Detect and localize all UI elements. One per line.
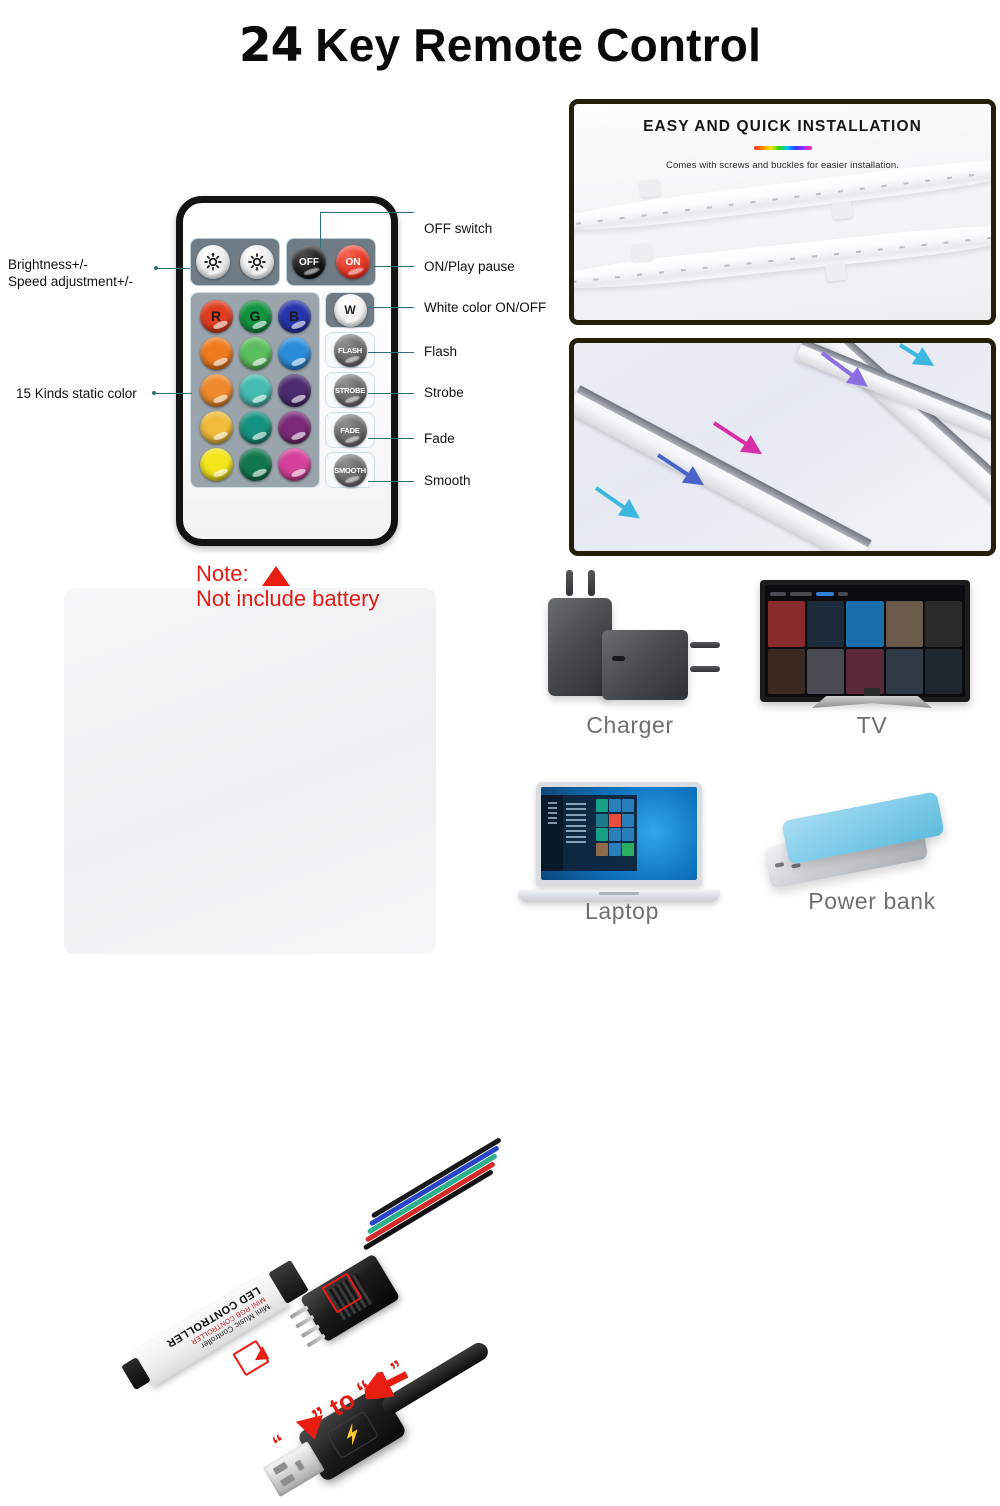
tv-screen [765, 585, 965, 697]
buckle-4 [825, 263, 847, 282]
device-power-bank: Power bank [750, 790, 994, 950]
connector-pin-3 [301, 1324, 320, 1338]
arrow-magenta [714, 423, 754, 449]
strobe-button[interactable]: STROBE [334, 374, 367, 407]
laptop-screen-bezel [536, 782, 702, 886]
color-button-2[interactable]: G [239, 300, 272, 333]
fade-button[interactable]: FADE [334, 414, 367, 447]
callout-smooth: Smooth [424, 473, 471, 488]
leader-on [374, 266, 414, 267]
power-group: OFF ON [286, 238, 376, 286]
color-button-3[interactable]: B [278, 300, 311, 333]
installation-photo-panel: EASY AND QUICK INSTALLATION Comes with s… [569, 99, 996, 325]
usb-slot-1 [273, 1462, 289, 1475]
windows-tile-9 [622, 828, 634, 841]
brightness-up-button[interactable] [196, 245, 230, 279]
windows-tile-6 [622, 814, 634, 827]
color-button-4[interactable] [200, 337, 233, 370]
tv-caption: TV [752, 712, 992, 739]
windows-tile-1 [596, 799, 608, 812]
charger-usb-c-port [612, 656, 625, 661]
windows-tile-10 [596, 843, 608, 856]
color-button-12[interactable] [278, 411, 311, 444]
windows-tile-3 [622, 799, 634, 812]
windows-tile-7 [596, 828, 608, 841]
remote-main-panel: RGB W FLASH STROBE FADE SMOOTH [190, 292, 376, 488]
callout-fade: Fade [424, 431, 455, 446]
connector-pin-1 [289, 1305, 308, 1319]
windows-tile-8 [609, 828, 621, 841]
wire-red [365, 1161, 496, 1243]
flash-button-cell: FLASH [325, 332, 375, 368]
laptop-caption: Laptop [512, 898, 732, 925]
power-bank-caption: Power bank [750, 888, 994, 915]
flash-button[interactable]: FLASH [334, 334, 367, 367]
wire-green [367, 1153, 498, 1235]
tv-menu-bar [768, 588, 962, 599]
callout-white-color: White color ON/OFF [424, 300, 546, 315]
arrow-blue [658, 455, 696, 480]
windows-tile-12 [622, 843, 634, 856]
power-bank-port-1 [775, 862, 785, 868]
start-menu-app-list [563, 795, 593, 871]
controller-usb-panel: Mini Music Controller MINI RGB CONTROLLE… [64, 588, 436, 954]
strobe-button-cell: STROBE [325, 372, 375, 408]
title-number: 24 [239, 18, 302, 73]
color-button-5[interactable] [239, 337, 272, 370]
sun-down-icon [247, 252, 267, 272]
usb-slot-3 [295, 1460, 305, 1472]
callout-brightness-line1: Brightness+/- [8, 256, 133, 273]
note-triangle-icon [262, 566, 290, 586]
white-color-button[interactable]: W [334, 294, 367, 327]
leader-dot-brightness [154, 266, 158, 270]
callout-off-switch: OFF switch [424, 221, 492, 236]
color-button-7[interactable] [200, 374, 233, 407]
leader-dot-static-color [152, 391, 156, 395]
buckle-3 [631, 243, 653, 262]
sun-up-icon [203, 252, 223, 272]
tv-thumbnail-5 [925, 601, 962, 647]
charger-prong-3 [690, 642, 720, 648]
callout-brightness-line2: Speed adjustment+/- [8, 273, 133, 290]
leader-off [320, 212, 414, 213]
title-rest: Key Remote Control [302, 19, 761, 71]
windows-start-menu [541, 795, 637, 871]
windows-tile-4 [596, 814, 608, 827]
arrow-cyan-upper [900, 345, 926, 361]
tv-thumbnail-7 [807, 649, 844, 695]
callout-static-color: 15 Kinds static color [16, 386, 137, 401]
start-menu-rail [541, 795, 563, 871]
arrow-cyan-lower [596, 488, 632, 513]
led-controller: Mini Music Controller MINI RGB CONTROLLE… [132, 1270, 290, 1387]
tv-thumbnail-9 [886, 649, 923, 695]
callout-strobe: Strobe [424, 385, 464, 400]
laptop-display [541, 787, 697, 880]
color-button-grid: RGB [190, 292, 320, 488]
tv-thumbnail-4 [886, 601, 923, 647]
power-bank-port-2 [791, 863, 801, 869]
brightness-group [190, 238, 280, 286]
arrow-overlay [574, 343, 991, 551]
wire-blue [369, 1145, 500, 1227]
install-subtitle: Comes with screws and buckles for easier… [574, 160, 991, 171]
charger-caption: Charger [520, 712, 740, 739]
arrow-purple [822, 353, 860, 381]
charger-prong-4 [690, 666, 720, 672]
leader-white [368, 307, 414, 308]
tv-thumbnail-10 [925, 649, 962, 695]
leader-fade [368, 438, 414, 439]
callout-flash: Flash [424, 344, 457, 359]
color-button-8[interactable] [239, 374, 272, 407]
leader-strobe [368, 393, 414, 394]
color-button-14[interactable] [239, 448, 272, 481]
leader-off-vertical [320, 212, 321, 248]
device-tv: TV [752, 576, 992, 756]
tv-thumbnail-2 [807, 601, 844, 647]
tv-thumbnail-3 [846, 601, 883, 647]
color-button-1[interactable]: R [200, 300, 233, 333]
leader-smooth [368, 481, 414, 482]
buckle-2 [831, 201, 853, 220]
laptop-trackpad-notch [599, 892, 639, 895]
brightness-down-button[interactable] [240, 245, 274, 279]
windows-tile-5 [609, 814, 621, 827]
leader-static-color [156, 393, 192, 394]
off-button[interactable]: OFF [292, 245, 326, 279]
buckle-1 [639, 179, 661, 198]
rainbow-divider [754, 146, 812, 150]
color-button-10[interactable] [200, 411, 233, 444]
tv-stand [812, 696, 932, 708]
color-button-13[interactable] [200, 448, 233, 481]
quote-open: “ [268, 1429, 291, 1457]
connector-pin-4 [306, 1334, 325, 1348]
remote-top-row: OFF ON [190, 238, 376, 286]
color-button-6[interactable] [278, 337, 311, 370]
connector-pin-2 [295, 1315, 314, 1329]
usb-slot-2 [280, 1474, 296, 1487]
tv-thumbnail-1 [768, 601, 805, 647]
callout-brightness-speed: Brightness+/- Speed adjustment+/- [8, 256, 133, 290]
install-heading: EASY AND QUICK INSTALLATION [574, 118, 991, 136]
infographic-page: 24 Key Remote Control [0, 0, 1000, 1000]
smooth-button-cell: SMOOTH [325, 452, 375, 488]
tv-set [760, 580, 970, 702]
controller-printing: Mini Music Controller MINI RGB CONTROLLE… [132, 1270, 290, 1387]
effect-button-column: W FLASH STROBE FADE SMOOTH [325, 292, 375, 488]
charger-prong-1 [566, 570, 573, 596]
color-button-9[interactable] [278, 374, 311, 407]
callout-on-play-pause: ON/Play pause [424, 259, 515, 274]
usb-metal-shell [263, 1441, 325, 1497]
fade-button-cell: FADE [325, 412, 375, 448]
device-laptop: Laptop [512, 776, 732, 946]
white-button-cell: W [325, 292, 375, 328]
windows-tile-2 [609, 799, 621, 812]
remote-control: OFF ON RGB W FLASH STROBE FADE [176, 196, 398, 546]
tv-thumbnail-6 [768, 649, 805, 695]
on-button[interactable]: ON [336, 245, 370, 279]
smooth-button[interactable]: SMOOTH [334, 454, 367, 487]
page-title: 24 Key Remote Control [0, 18, 1000, 73]
charger-adapter-front [602, 630, 688, 700]
leader-flash [368, 352, 414, 353]
note-line2: Not include battery [196, 586, 379, 611]
strips-photo-panel [569, 338, 996, 556]
device-charger: Charger [520, 568, 740, 758]
color-button-11[interactable] [239, 411, 272, 444]
leader-brightness [158, 268, 190, 269]
windows-tile-11 [609, 843, 621, 856]
start-menu-tiles [593, 795, 637, 871]
charger-prong-2 [588, 570, 595, 596]
color-button-15[interactable] [278, 448, 311, 481]
